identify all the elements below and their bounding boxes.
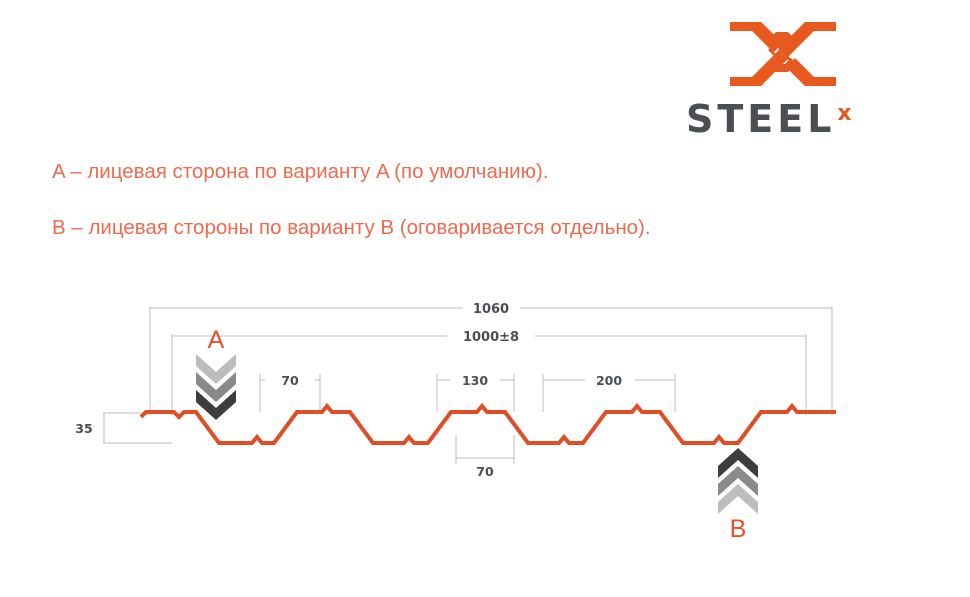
dim-label-130: 130 [462, 373, 488, 388]
corrugated-profile-path [141, 406, 836, 443]
marker-a: A [196, 326, 236, 420]
profile-technical-drawing: 1060 1000±8 70 130 200 70 35 A B [0, 280, 970, 570]
dim-label-70-upper: 70 [281, 373, 299, 388]
marker-a-label: A [208, 326, 225, 354]
marker-a-chevron-icon [196, 354, 236, 420]
caption-variant-a: A – лицевая сторона по варианту A (по ум… [52, 160, 549, 184]
dim-label-200: 200 [596, 373, 622, 388]
steelx-x-logo-icon [728, 16, 838, 92]
wordmark-x-superscript: x [837, 103, 851, 125]
caption-variant-b: B – лицевая стороны по варианту B (огова… [52, 216, 651, 240]
dim-label-1000: 1000±8 [463, 330, 519, 345]
dim-label-35: 35 [75, 421, 92, 436]
dim-label-1060: 1060 [473, 302, 509, 317]
marker-b-chevron-icon [718, 448, 758, 514]
brand-wordmark: STEEL x [686, 100, 906, 142]
marker-b-label: B [730, 515, 747, 543]
wordmark-steel-text: STEEL [686, 100, 835, 138]
marker-b: B [718, 448, 758, 543]
brand-logo: STEEL x [686, 16, 906, 142]
dim-label-70-lower: 70 [476, 464, 494, 479]
